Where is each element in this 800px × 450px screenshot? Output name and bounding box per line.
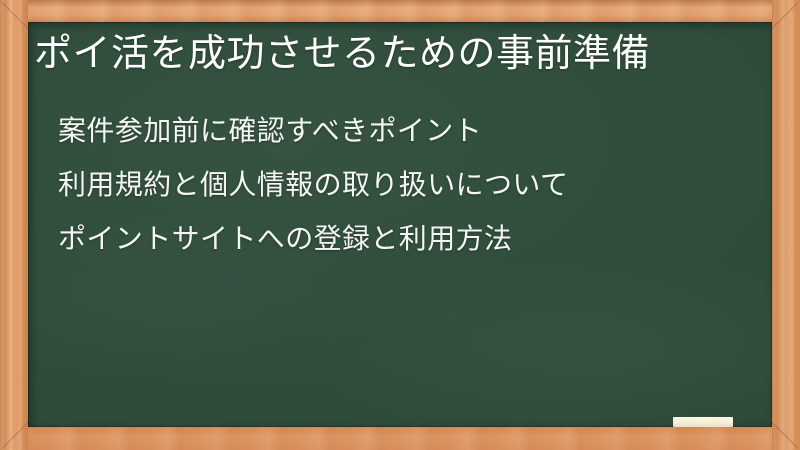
bullet-list: 案件参加前に確認すべきポイント 利用規約と個人情報の取り扱いについて ポイントサ… xyxy=(58,104,748,266)
list-item: 利用規約と個人情報の取り扱いについて xyxy=(58,158,748,212)
frame-rail-top xyxy=(0,0,800,22)
blackboard-slide: ポイ活を成功させるための事前準備 案件参加前に確認すべきポイント 利用規約と個人… xyxy=(0,0,800,450)
chalkboard-surface: ポイ活を成功させるための事前準備 案件参加前に確認すべきポイント 利用規約と個人… xyxy=(28,22,772,427)
chalk-stick xyxy=(673,417,733,427)
list-item: 案件参加前に確認すべきポイント xyxy=(58,104,748,158)
frame-rail-left xyxy=(0,0,28,450)
list-item: ポイントサイトへの登録と利用方法 xyxy=(58,212,748,266)
frame-rail-right xyxy=(772,0,800,450)
page-title: ポイ活を成功させるための事前準備 xyxy=(34,30,758,78)
frame-rail-bottom xyxy=(0,427,800,450)
